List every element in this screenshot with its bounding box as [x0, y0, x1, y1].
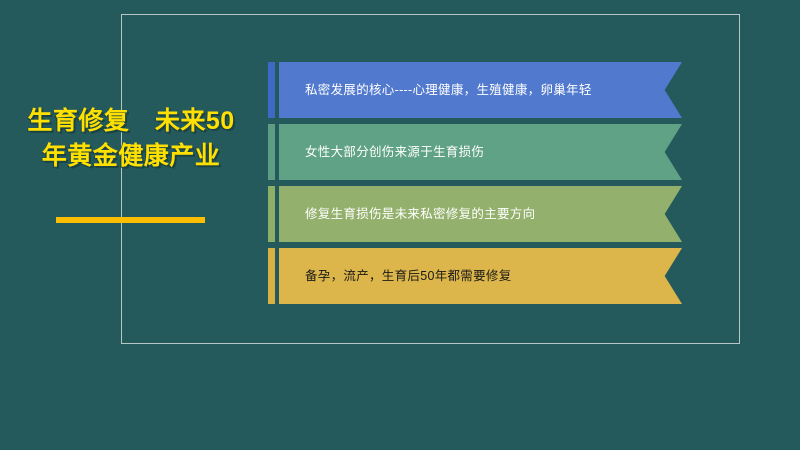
list-item[interactable]: 女性大部分创伤来源于生育损伤: [268, 124, 688, 180]
banner-body[interactable]: 私密发展的核心----心理健康，生殖健康，卵巢年轻: [279, 62, 682, 118]
title-block: 生育修复 未来50年黄金健康产业: [18, 104, 244, 174]
list-item[interactable]: 备孕，流产，生育后50年都需要修复: [268, 248, 688, 304]
banner-label: 女性大部分创伤来源于生育损伤: [279, 144, 528, 161]
list-item[interactable]: 修复生育损伤是未来私密修复的主要方向: [268, 186, 688, 242]
list-item[interactable]: 私密发展的核心----心理健康，生殖健康，卵巢年轻: [268, 62, 688, 118]
banner-label: 备孕，流产，生育后50年都需要修复: [279, 268, 556, 285]
banner-body[interactable]: 修复生育损伤是未来私密修复的主要方向: [279, 186, 682, 242]
banner-body[interactable]: 女性大部分创伤来源于生育损伤: [279, 124, 682, 180]
banner-accent-tab: [268, 124, 275, 180]
banner-list: 私密发展的核心----心理健康，生殖健康，卵巢年轻 女性大部分创伤来源于生育损伤…: [268, 62, 688, 310]
banner-label: 修复生育损伤是未来私密修复的主要方向: [279, 206, 579, 223]
title-underline-rule: [56, 217, 205, 223]
slide-canvas: 生育修复 未来50年黄金健康产业 私密发展的核心----心理健康，生殖健康，卵巢…: [0, 0, 800, 450]
banner-accent-tab: [268, 186, 275, 242]
banner-label: 私密发展的核心----心理健康，生殖健康，卵巢年轻: [279, 82, 636, 99]
banner-accent-tab: [268, 248, 275, 304]
banner-accent-tab: [268, 62, 275, 118]
banner-body[interactable]: 备孕，流产，生育后50年都需要修复: [279, 248, 682, 304]
page-title: 生育修复 未来50年黄金健康产业: [18, 104, 244, 174]
